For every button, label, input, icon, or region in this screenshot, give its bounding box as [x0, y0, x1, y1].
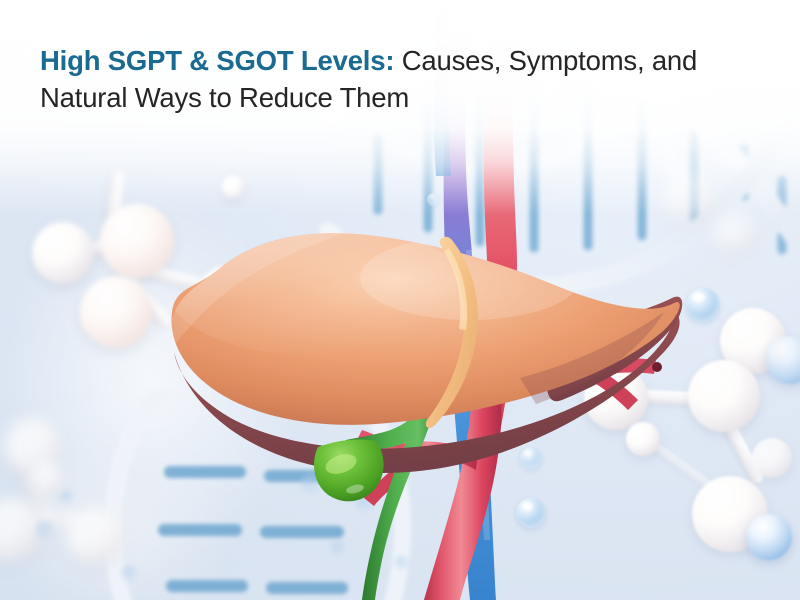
- gallbladder: [314, 439, 384, 501]
- page-title-accent: High SGPT & SGOT Levels:: [40, 45, 394, 76]
- page-title: High SGPT & SGOT Levels: Causes, Symptom…: [40, 42, 740, 116]
- banner-image: High SGPT & SGOT Levels: Causes, Symptom…: [0, 0, 800, 600]
